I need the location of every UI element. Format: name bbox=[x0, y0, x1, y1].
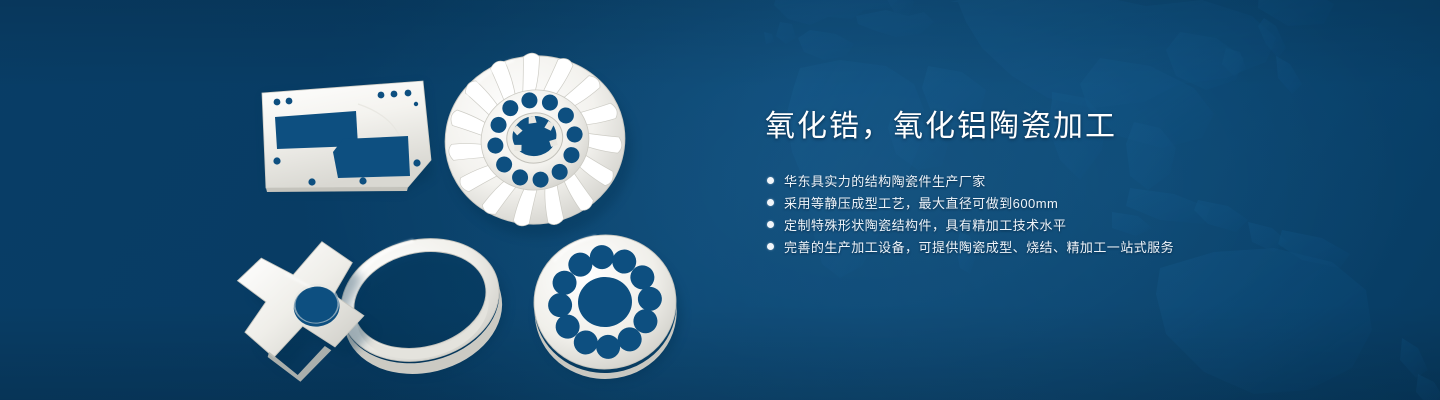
page-title: 氧化锆，氧化铝陶瓷加工 bbox=[765, 108, 1385, 146]
bullet-dot-icon bbox=[767, 177, 774, 184]
ceramic-port-plate bbox=[529, 230, 686, 387]
list-item: 完善的生产加工设备，可提供陶瓷成型、烧结、精加工一站式服务 bbox=[765, 236, 1385, 258]
list-item-label: 采用等静压成型工艺，最大直径可做到600mm bbox=[784, 193, 1058, 212]
bullet-dot-icon bbox=[767, 199, 774, 206]
feature-list: 华东具实力的结构陶瓷件生产厂家 采用等静压成型工艺，最大直径可做到600mm 定… bbox=[765, 170, 1385, 258]
list-item-label: 定制特殊形状陶瓷结构件，具有精加工技术水平 bbox=[784, 215, 1066, 234]
ceramic-mounting-plate bbox=[262, 81, 432, 192]
list-item-label: 完善的生产加工设备，可提供陶瓷成型、烧结、精加工一站式服务 bbox=[784, 237, 1174, 256]
bullet-dot-icon bbox=[767, 243, 774, 250]
hero-banner: 氧化锆，氧化铝陶瓷加工 华东具实力的结构陶瓷件生产厂家 采用等静压成型工艺，最大… bbox=[0, 0, 1440, 400]
copy-block: 氧化锆，氧化铝陶瓷加工 华东具实力的结构陶瓷件生产厂家 采用等静压成型工艺，最大… bbox=[765, 108, 1385, 258]
bullet-dot-icon bbox=[767, 221, 774, 228]
list-item: 定制特殊形状陶瓷结构件，具有精加工技术水平 bbox=[765, 214, 1385, 236]
ceramic-impeller bbox=[434, 41, 644, 250]
list-item: 华东具实力的结构陶瓷件生产厂家 bbox=[765, 170, 1385, 192]
list-item: 采用等静压成型工艺，最大直径可做到600mm bbox=[765, 192, 1385, 214]
list-item-label: 华东具实力的结构陶瓷件生产厂家 bbox=[784, 171, 986, 190]
ceramic-products-photo bbox=[0, 0, 720, 400]
ceramic-thin-ring bbox=[328, 221, 520, 391]
ceramic-cross-plate bbox=[234, 237, 379, 387]
